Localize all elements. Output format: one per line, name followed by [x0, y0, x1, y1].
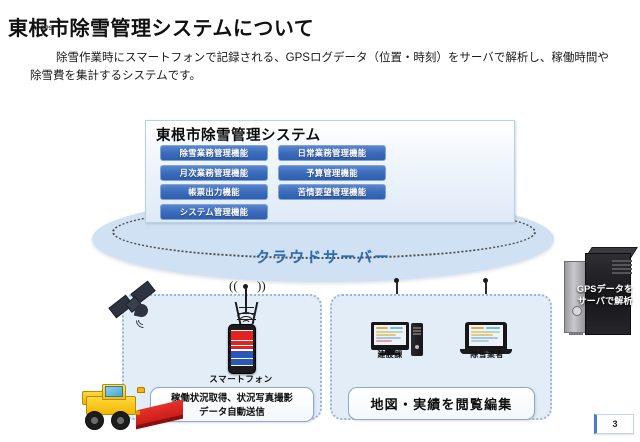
page-title: 東根市除雪管理システムについて: [8, 12, 314, 41]
loader-beacon-light: [137, 387, 145, 393]
server-overlay-line2: サーバで解析: [574, 295, 636, 307]
smartphone-icon: [228, 324, 256, 374]
laptop-lid: [465, 322, 507, 349]
office-callout-text: 地図・実績を閲覧編集: [370, 394, 512, 413]
system-box-title: 東根市除雪管理システム: [156, 124, 321, 145]
laptop-screen: [469, 325, 503, 346]
phone-row-blue: [231, 359, 253, 365]
pc-monitor: [371, 322, 409, 350]
function-button[interactable]: 日常業務管理機能: [278, 145, 386, 161]
smartphone-label: スマートフォン: [198, 373, 284, 385]
connector-dot-laptop-top: [483, 278, 488, 283]
slide-canvas: 東根市除雪管理システムについて 除雪作業時にスマートフォンで記録される、GPSロ…: [0, 0, 640, 442]
function-button[interactable]: システム管理機能: [160, 204, 268, 220]
server-vent: [612, 272, 632, 274]
server-vent: [612, 268, 632, 270]
function-column-left: 除雪業務管理機能 月次業務管理機能 帳票出力機能 システム管理機能: [160, 145, 268, 223]
laptop-label: 除雪業者: [455, 349, 519, 360]
connector-dot-pc-top: [394, 278, 399, 283]
field-callout-line1: 稼働状況取得、状況写真撮影: [171, 391, 293, 405]
function-button[interactable]: 帳票出力機能: [160, 184, 268, 200]
phone-header-band: [231, 331, 253, 340]
smartphone-screen: [231, 330, 253, 366]
function-button[interactable]: 除雪業務管理機能: [160, 145, 268, 161]
pc-label: 建設課: [358, 349, 422, 360]
loader-wheel: [85, 411, 104, 430]
loader-windshield: [105, 386, 123, 397]
antenna-signal-paren-right: )): [257, 278, 266, 294]
server-drive-slot: [569, 332, 583, 335]
phone-row-blue: [231, 351, 253, 358]
server-vent: [612, 260, 632, 262]
function-button[interactable]: 月次業務管理機能: [160, 165, 268, 181]
antenna-signal-paren-left: ((: [229, 278, 238, 294]
loader-wheel: [111, 411, 130, 430]
function-column-right: 日常業務管理機能 予算管理機能 苦情要望管理機能: [278, 145, 386, 204]
antenna-crossbar: [239, 307, 254, 308]
page-number-badge: 3: [594, 414, 634, 434]
field-callout-line2: データ自動送信: [199, 405, 265, 419]
satellite-icon: [108, 282, 164, 334]
snow-plow-loader-icon: [78, 378, 186, 436]
server-overlay-line1: GPSデータを: [574, 283, 636, 295]
server-overlay-text: GPSデータを サーバで解析: [574, 283, 636, 308]
server-vent: [612, 264, 632, 266]
pc-screen: [374, 325, 406, 345]
function-button[interactable]: 予算管理機能: [278, 165, 386, 181]
function-button[interactable]: 苦情要望管理機能: [278, 184, 386, 200]
gps-label: GPS: [40, 26, 53, 32]
antenna-mast: [245, 286, 247, 312]
cloud-label: クラウドサーバー: [92, 246, 554, 267]
lead-paragraph: 除雪作業時にスマートフォンで記録される、GPSログデータ（位置・時刻）をサーバで…: [30, 50, 620, 86]
system-box: 東根市除雪管理システム 除雪業務管理機能 月次業務管理機能 帳票出力機能 システ…: [145, 120, 515, 223]
office-callout-box: 地図・実績を閲覧編集: [348, 387, 535, 420]
server-tower-icon: GPSデータを サーバで解析: [564, 247, 636, 335]
